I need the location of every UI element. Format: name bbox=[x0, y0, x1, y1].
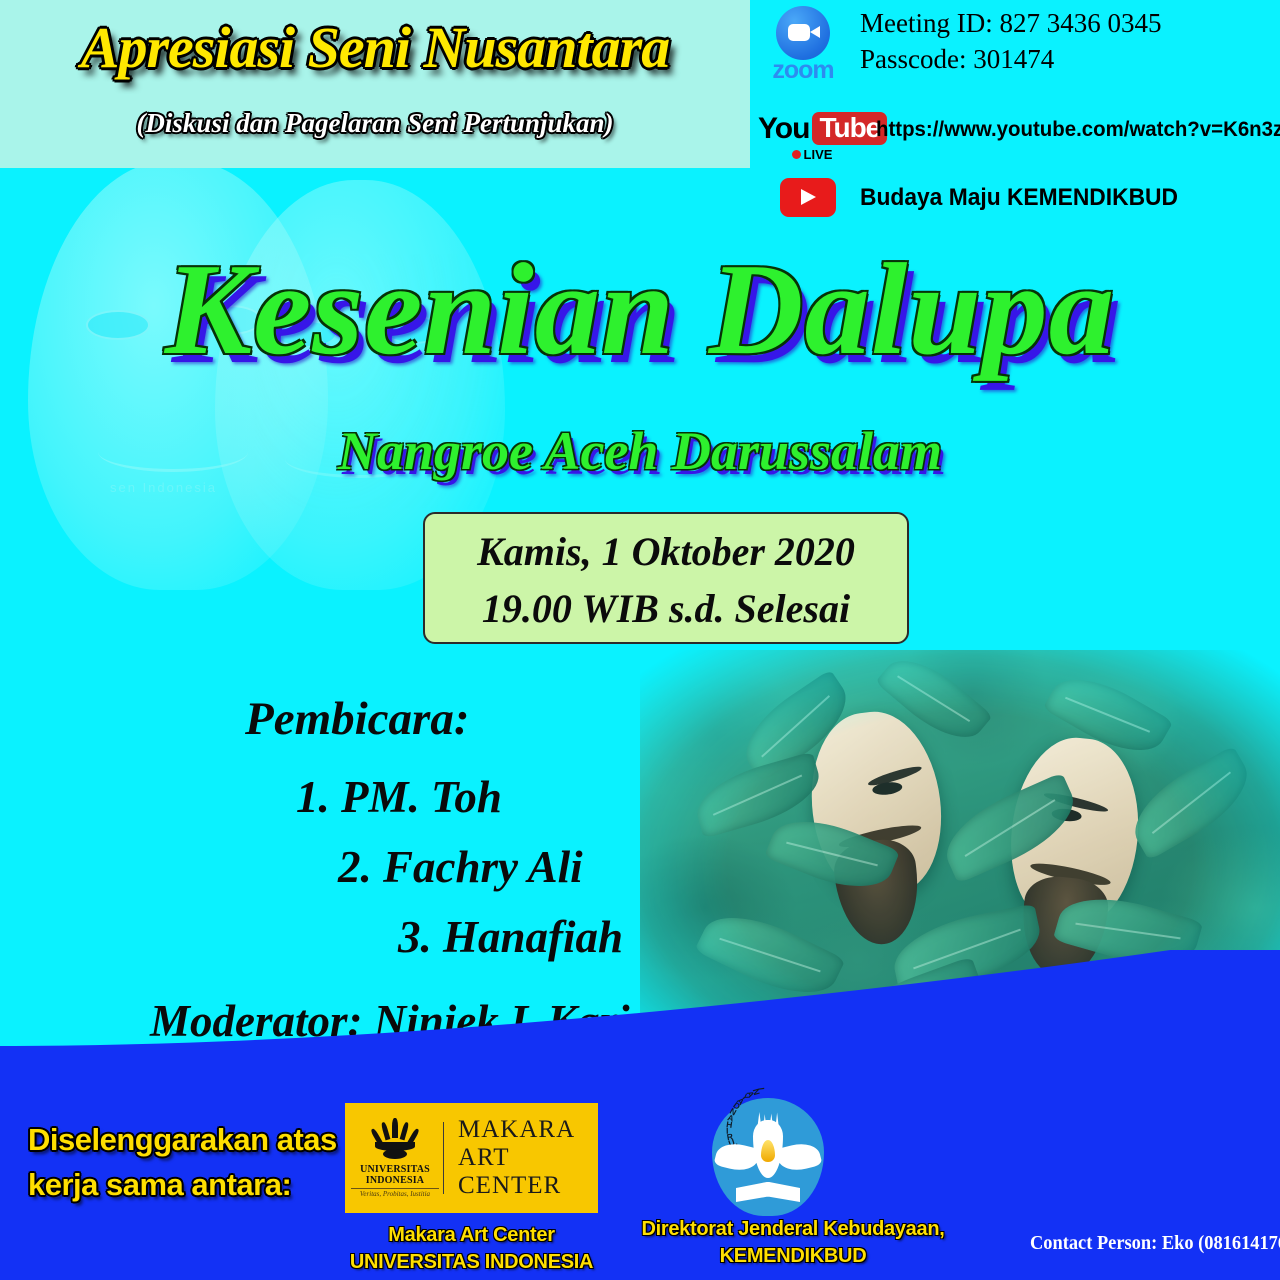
universitas-indonesia-makara-icon: UNIVERSITAS INDONESIA Veritas, Probitas,… bbox=[345, 1118, 439, 1198]
makara-word-line-1: MAKARA bbox=[458, 1116, 575, 1144]
makara-word-line-2: ART bbox=[458, 1144, 575, 1172]
emblem-university-name: UNIVERSITAS INDONESIA bbox=[351, 1164, 439, 1186]
makara-caption: Makara Art Center UNIVERSITAS INDONESIA bbox=[345, 1222, 598, 1276]
speaker-item: 2. Fachry Ali bbox=[338, 841, 583, 893]
youtube-channel-row[interactable]: Budaya Maju KEMENDIKBUD bbox=[780, 178, 1195, 217]
youtube-channel-name: Budaya Maju KEMENDIKBUD bbox=[860, 184, 1178, 212]
speakers-heading: Pembicara: bbox=[245, 692, 470, 746]
emblem-motto: Veritas, Probitas, Iustitia bbox=[351, 1188, 439, 1198]
makara-wordmark: MAKARA ART CENTER bbox=[458, 1116, 575, 1200]
youtube-url[interactable]: https://www.youtube.com/watch?v=K6n3zuW3… bbox=[876, 117, 1280, 142]
makara-caption-line-2: UNIVERSITAS INDONESIA bbox=[345, 1249, 598, 1276]
contact-person: Contact Person: Eko (08161417650) bbox=[1030, 1232, 1280, 1255]
makara-caption-line-1: Makara Art Center bbox=[345, 1222, 598, 1249]
tut-wuri-handayani-icon: T U T W U R I H A N D A Y A N I bbox=[712, 1098, 824, 1216]
zoom-meeting-id: Meeting ID: 827 3436 0345 bbox=[860, 6, 1161, 42]
cooperation-text: Diselenggarakan atas kerja sama antara: bbox=[28, 1118, 337, 1208]
speaker-item: 3. Hanafiah bbox=[398, 911, 623, 963]
cooperation-line-1: Diselenggarakan atas bbox=[28, 1118, 337, 1163]
makara-emblem-shape bbox=[369, 1118, 421, 1162]
makara-art-center-logo: UNIVERSITAS INDONESIA Veritas, Probitas,… bbox=[345, 1103, 598, 1213]
youtube-logo-icon: You Tube LIVE bbox=[758, 112, 866, 162]
zoom-info-row: zoom Meeting ID: 827 3436 0345 Passcode:… bbox=[766, 6, 1161, 83]
video-camera-icon bbox=[788, 24, 810, 41]
zoom-video-icon bbox=[776, 6, 830, 60]
event-time: 19.00 WIB s.d. Selesai bbox=[425, 581, 907, 638]
event-region: Nangroe Aceh Darussalam bbox=[0, 424, 1280, 478]
zoom-wordmark: zoom bbox=[766, 58, 840, 83]
logo-divider bbox=[443, 1122, 444, 1194]
event-datetime-box: Kamis, 1 Oktober 2020 19.00 WIB s.d. Sel… bbox=[423, 512, 909, 644]
kemendikbud-caption: Direktorat Jenderal Kebudayaan, KEMENDIK… bbox=[628, 1216, 958, 1270]
streaming-info: zoom Meeting ID: 827 3436 0345 Passcode:… bbox=[752, 0, 1280, 230]
zoom-credentials: Meeting ID: 827 3436 0345 Passcode: 3014… bbox=[860, 6, 1161, 77]
kemendikbud-caption-line-2: KEMENDIKBUD bbox=[628, 1243, 958, 1270]
kemendikbud-caption-line-1: Direktorat Jenderal Kebudayaan, bbox=[628, 1216, 958, 1243]
live-dot-icon bbox=[792, 150, 801, 159]
poster-title: Apresiasi Seni Nusantara bbox=[0, 14, 750, 81]
live-label: LIVE bbox=[804, 147, 833, 162]
zoom-logo: zoom bbox=[766, 6, 840, 83]
event-date: Kamis, 1 Oktober 2020 bbox=[425, 524, 907, 581]
youtube-live-badge: LIVE bbox=[758, 147, 866, 162]
poster-canvas: sen Indonesia bbox=[0, 0, 1280, 1280]
poster-subtitle: (Diskusi dan Pagelaran Seni Pertunjukan) bbox=[0, 108, 750, 139]
makara-word-line-3: CENTER bbox=[458, 1172, 575, 1200]
youtube-brand-you: You bbox=[758, 114, 809, 144]
youtube-link-row[interactable]: You Tube LIVE https://www.youtube.com/wa… bbox=[758, 112, 1280, 162]
zoom-passcode: Passcode: 301474 bbox=[860, 42, 1161, 78]
speaker-item: 1. PM. Toh bbox=[296, 771, 502, 823]
event-title: Kesenian Dalupa bbox=[0, 244, 1280, 375]
youtube-play-icon bbox=[780, 178, 836, 217]
watermark-text: sen Indonesia bbox=[110, 480, 217, 495]
cooperation-line-2: kerja sama antara: bbox=[28, 1163, 337, 1208]
